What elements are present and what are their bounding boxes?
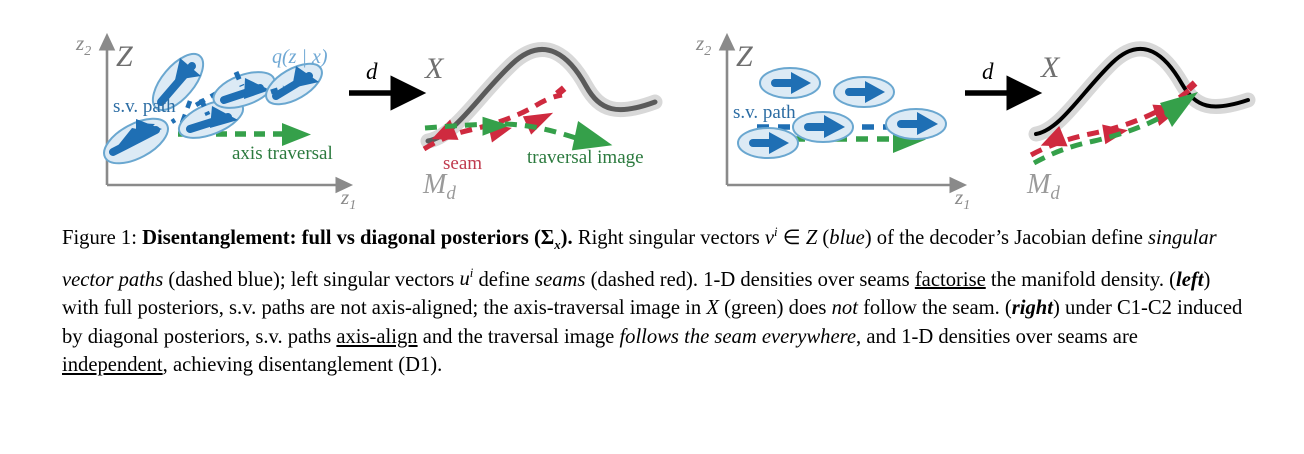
posterior-label-left: q(z | x)	[272, 46, 328, 68]
latent-space-label-left: Z	[116, 40, 133, 73]
caption-not-word: not	[832, 297, 858, 319]
posterior-ellipse	[834, 77, 894, 107]
manifold-metric-label-left: Md	[422, 169, 456, 204]
right-manifold-panel: X Md	[1026, 49, 1248, 204]
latent-x-axis-label-left: z1	[340, 185, 356, 210]
latent-y-axis-label-left: z2	[75, 31, 91, 59]
caption-figure-label: Figure 1:	[62, 227, 137, 249]
sv-path-label-left: s.v. path	[113, 96, 176, 117]
figure-diagram: z2 z1 Z	[0, 0, 1304, 210]
manifold-halo-right	[1036, 49, 1248, 134]
figure-1: z2 z1 Z	[0, 0, 1304, 454]
manifold-space-label-left: X	[424, 52, 445, 85]
posterior-ellipse	[886, 109, 946, 139]
caption-follows-seam-term: follows the seam everywhere	[619, 326, 856, 348]
posterior-ellipse	[793, 112, 853, 142]
caption-independent-term: independent	[62, 354, 163, 376]
caption-seams-term: seams	[535, 268, 585, 290]
posterior-ellipse	[97, 110, 175, 173]
latent-x-axis-label-right: z1	[954, 185, 970, 210]
sv-path-label-right: s.v. path	[733, 102, 796, 123]
caption-u-symbol: ui	[459, 268, 473, 290]
posterior-ellipse	[760, 68, 820, 98]
caption-Z-symbol: Z	[806, 227, 817, 249]
caption-blue-word: blue	[829, 227, 864, 249]
manifold-space-label-right: X	[1040, 51, 1061, 84]
decoder-arrow-right: d	[965, 59, 1012, 93]
seam-label-left: seam	[443, 153, 482, 174]
caption-factorise-term: factorise	[915, 268, 986, 290]
caption-axis-align-term: axis-align	[336, 326, 417, 348]
caption-right-marker: right	[1012, 297, 1053, 319]
decoder-label-left: d	[366, 59, 378, 84]
left-latent-panel: z2 z1 Z	[75, 31, 356, 210]
left-manifold-panel: X Md seam traversal image	[422, 49, 655, 204]
latent-space-label-right: Z	[736, 40, 753, 73]
caption-X-symbol: X	[706, 297, 719, 319]
decoder-label-right: d	[982, 59, 994, 84]
manifold-halo-left	[428, 49, 655, 141]
latent-y-axis-label-right: z2	[695, 31, 711, 59]
seam-path-left	[424, 85, 566, 150]
axis-traversal-label-left: axis traversal	[232, 143, 333, 164]
posterior-ellipse	[738, 128, 798, 158]
right-latent-panel: z2 z1 Z	[695, 31, 970, 210]
decoder-arrow-left: d	[349, 59, 396, 93]
caption-left-marker: left	[1176, 268, 1203, 290]
manifold-metric-label-right: Md	[1026, 169, 1060, 204]
traversal-image-label-left: traversal image	[527, 147, 644, 168]
figure-caption: Figure 1: Disentanglement: full vs diago…	[62, 218, 1248, 380]
caption-title: Disentanglement: full vs diagonal poster…	[142, 227, 573, 249]
caption-v-symbol: vi	[765, 227, 778, 249]
